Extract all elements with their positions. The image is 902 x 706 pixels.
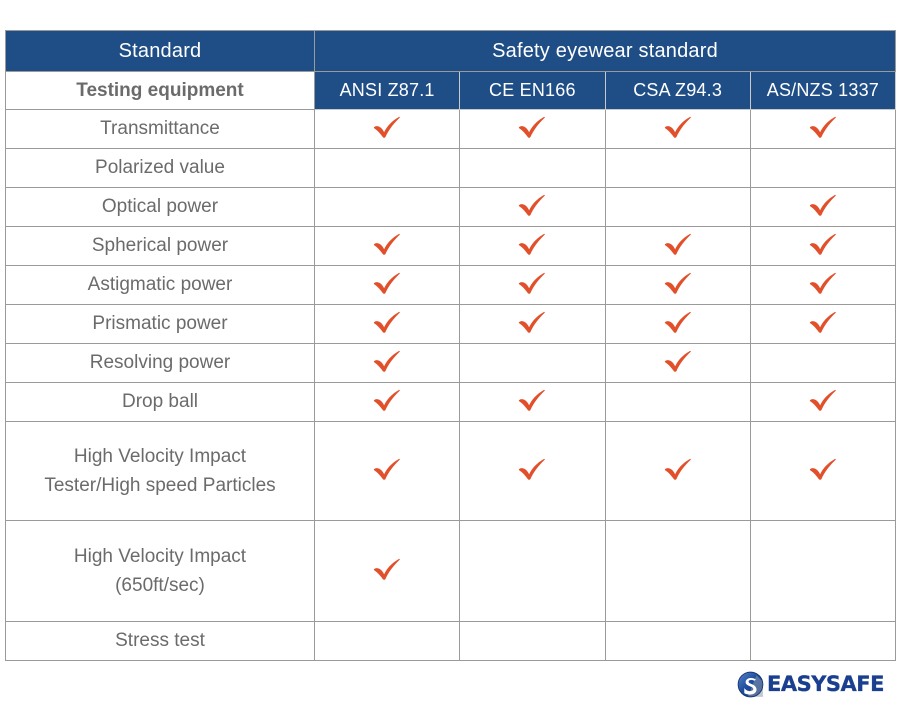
cell-empty: [460, 521, 605, 622]
cell-check: [460, 422, 605, 521]
header-safety-eyewear-standard: Safety eyewear standard: [315, 31, 896, 72]
easysafe-logo: EASYSAFE: [737, 669, 895, 699]
cell-check: [315, 110, 460, 149]
row-label-line: Polarized value: [6, 153, 314, 182]
page-root: Standard Safety eyewear standard Testing…: [0, 0, 902, 706]
check-icon: [372, 348, 402, 374]
check-icon: [663, 231, 693, 257]
row-label-cell: Prismatic power: [6, 305, 315, 344]
row-label-cell: High Velocity Impact(650ft/sec): [6, 521, 315, 622]
table-row: Drop ball: [6, 383, 896, 422]
table-row: Spherical power: [6, 227, 896, 266]
check-icon: [372, 231, 402, 257]
row-label-cell: Optical power: [6, 188, 315, 227]
check-icon: [517, 456, 547, 482]
cell-check: [605, 422, 750, 521]
check-icon: [808, 309, 838, 335]
row-label-line: High Velocity Impact: [6, 542, 314, 571]
check-icon: [517, 270, 547, 296]
check-icon: [663, 309, 693, 335]
row-label-cell: Stress test: [6, 622, 315, 661]
check-icon: [372, 114, 402, 140]
row-label-line: Prismatic power: [6, 309, 314, 338]
header-column-as-nzs-1337: AS/NZS 1337: [750, 72, 895, 110]
check-icon: [663, 456, 693, 482]
row-label-line: Spherical power: [6, 231, 314, 260]
cell-check: [605, 305, 750, 344]
row-label-cell: Resolving power: [6, 344, 315, 383]
check-icon: [372, 309, 402, 335]
header-column-ce-en166: CE EN166: [460, 72, 605, 110]
cell-check: [750, 266, 895, 305]
row-label-line: High Velocity Impact: [6, 442, 314, 471]
table-row: High Velocity Impact(650ft/sec): [6, 521, 896, 622]
cell-empty: [605, 149, 750, 188]
cell-check: [315, 521, 460, 622]
table-header-row-top: Standard Safety eyewear standard: [6, 31, 896, 72]
check-icon: [808, 456, 838, 482]
table-row: High Velocity ImpactTester/High speed Pa…: [6, 422, 896, 521]
row-label-line: Optical power: [6, 192, 314, 221]
easysafe-s-circle-icon: [737, 671, 764, 698]
row-label-cell: Polarized value: [6, 149, 315, 188]
check-icon: [517, 309, 547, 335]
cell-check: [460, 383, 605, 422]
cell-check: [315, 266, 460, 305]
cell-check: [315, 383, 460, 422]
check-icon: [808, 231, 838, 257]
cell-check: [750, 110, 895, 149]
easysafe-wordmark: EASYSAFE: [767, 674, 884, 695]
check-icon: [372, 270, 402, 296]
header-column-csa-z94-3: CSA Z94.3: [605, 72, 750, 110]
cell-check: [460, 188, 605, 227]
cell-check: [605, 227, 750, 266]
cell-check: [750, 422, 895, 521]
check-icon: [372, 556, 402, 582]
check-icon: [663, 114, 693, 140]
cell-check: [315, 344, 460, 383]
cell-check: [750, 383, 895, 422]
cell-check: [315, 227, 460, 266]
table-row: Transmittance: [6, 110, 896, 149]
row-label-cell: Astigmatic power: [6, 266, 315, 305]
header-standard: Standard: [6, 31, 315, 72]
cell-empty: [605, 622, 750, 661]
header-column-ansi-z87-1: ANSI Z87.1: [315, 72, 460, 110]
check-icon: [808, 192, 838, 218]
row-label-line: Drop ball: [6, 387, 314, 416]
header-testing-equipment: Testing equipment: [6, 72, 315, 110]
cell-empty: [460, 622, 605, 661]
check-icon: [808, 387, 838, 413]
cell-check: [605, 266, 750, 305]
cell-empty: [605, 188, 750, 227]
table-row: Optical power: [6, 188, 896, 227]
cell-check: [750, 188, 895, 227]
check-icon: [372, 387, 402, 413]
cell-check: [460, 227, 605, 266]
row-label-line: Astigmatic power: [6, 270, 314, 299]
check-icon: [517, 192, 547, 218]
cell-empty: [750, 622, 895, 661]
check-icon: [517, 387, 547, 413]
row-label-line: Stress test: [6, 626, 314, 655]
table-row: Stress test: [6, 622, 896, 661]
cell-check: [315, 305, 460, 344]
check-icon: [372, 456, 402, 482]
check-icon: [808, 270, 838, 296]
row-label-line: (650ft/sec): [6, 571, 314, 600]
cell-check: [460, 110, 605, 149]
cell-empty: [750, 344, 895, 383]
cell-empty: [315, 149, 460, 188]
cell-check: [605, 344, 750, 383]
row-label-cell: Drop ball: [6, 383, 315, 422]
row-label-cell: Spherical power: [6, 227, 315, 266]
cell-empty: [460, 344, 605, 383]
check-icon: [808, 114, 838, 140]
cell-empty: [315, 622, 460, 661]
cell-check: [605, 110, 750, 149]
table-body: TransmittancePolarized valueOptical powe…: [6, 110, 896, 661]
cell-check: [315, 422, 460, 521]
row-label-line: Tester/High speed Particles: [6, 471, 314, 500]
check-icon: [663, 270, 693, 296]
cell-empty: [750, 521, 895, 622]
cell-empty: [750, 149, 895, 188]
row-label-cell: High Velocity ImpactTester/High speed Pa…: [6, 422, 315, 521]
check-icon: [517, 114, 547, 140]
row-label-line: Resolving power: [6, 348, 314, 377]
table-row: Astigmatic power: [6, 266, 896, 305]
row-label-line: Transmittance: [6, 114, 314, 143]
cell-empty: [315, 188, 460, 227]
table-row: Resolving power: [6, 344, 896, 383]
table-row: Prismatic power: [6, 305, 896, 344]
cell-empty: [605, 521, 750, 622]
table-header: Standard Safety eyewear standard Testing…: [6, 31, 896, 110]
standards-comparison-table: Standard Safety eyewear standard Testing…: [5, 30, 896, 661]
cell-empty: [460, 149, 605, 188]
comparison-table-container: Standard Safety eyewear standard Testing…: [5, 30, 895, 661]
cell-check: [460, 305, 605, 344]
check-icon: [663, 348, 693, 374]
check-icon: [517, 231, 547, 257]
cell-empty: [605, 383, 750, 422]
row-label-cell: Transmittance: [6, 110, 315, 149]
cell-check: [750, 227, 895, 266]
cell-check: [750, 305, 895, 344]
cell-check: [460, 266, 605, 305]
table-header-row-columns: Testing equipment ANSI Z87.1 CE EN166 CS…: [6, 72, 896, 110]
table-row: Polarized value: [6, 149, 896, 188]
